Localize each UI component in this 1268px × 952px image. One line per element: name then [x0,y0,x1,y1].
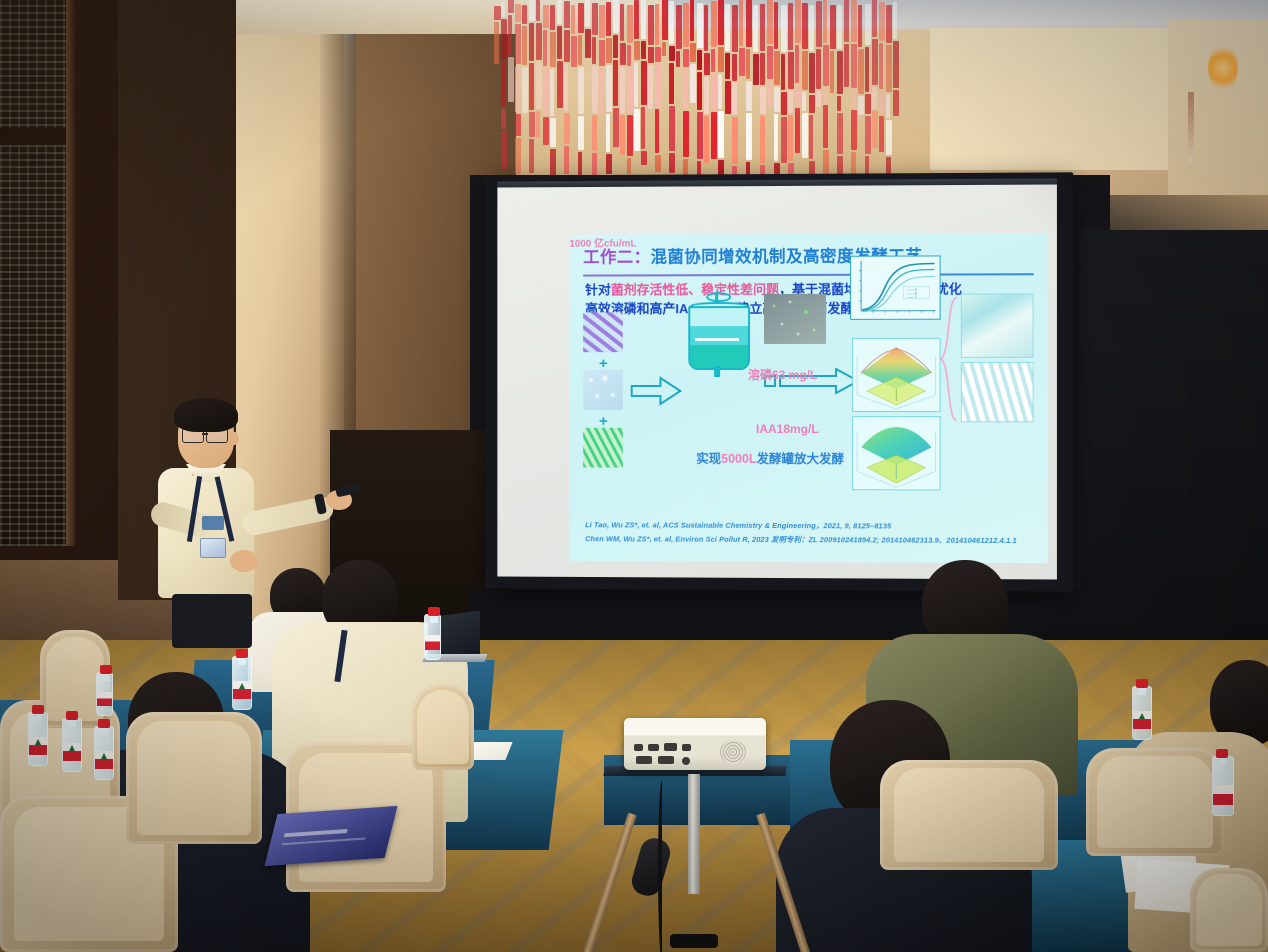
chandelier-strip [781,54,785,90]
chandelier-strip [858,96,864,115]
scaleup-post: 发酵罐放大发酵 [756,452,844,466]
chandelier-strip [648,65,653,109]
chandelier-strip [536,0,540,21]
chandelier-strip [809,95,815,113]
chandelier-strip [676,51,680,67]
conference-booklet [264,806,397,866]
chandelier-strip [781,5,787,52]
chandelier-strip [746,113,752,160]
phosphate-callout-label: 溶磷63 mg/L [748,366,817,383]
chandelier-strip [767,46,773,79]
chandelier-strip [746,49,750,79]
chandelier-strip [634,0,639,39]
chandelier-strip [557,61,563,108]
name-badge [200,538,226,558]
chandelier-strip [802,3,808,49]
chandelier-strip [697,3,703,48]
chandelier-strip [592,37,596,64]
chandelier-strip [585,29,591,58]
presenter-ear [230,432,239,445]
chandelier-strip [522,5,527,24]
chandelier-strip [606,38,612,63]
chandelier-strip [865,47,869,92]
chandelier-strip [501,2,505,17]
chandelier-strip [704,5,708,51]
chandelier-strip [578,67,584,114]
chandelier-strip [564,146,569,174]
scaleup-volume: 5000L [721,452,756,466]
projector-port-3 [664,743,677,751]
chandelier-strip [697,72,702,110]
chandelier-strip [865,94,871,114]
chandelier-strip [522,26,527,65]
chandelier-strip [627,68,633,113]
chandelier-strip [683,49,689,67]
chandelier-strip [823,105,828,148]
chandelier-strip [606,65,612,112]
chandelier-strip [851,110,857,150]
chandelier-strip [886,94,890,118]
body-line1-pre: 针对 [585,282,611,297]
chandelier-strip [683,111,689,157]
chandelier-strip [690,64,696,103]
microscope-image-colonies [583,370,623,410]
chandelier-strip [543,30,547,66]
chandelier-strip [641,0,646,39]
tripod-base [670,934,718,948]
water-bottle-1 [28,712,48,766]
chair-right-3 [1190,868,1268,952]
chandelier-strip [683,69,687,109]
chandelier-strip [774,87,780,112]
chandelier-strip [536,111,540,137]
chandelier-strip [627,5,633,43]
chandelier-strip [893,2,897,39]
chandelier-strip [543,117,549,145]
chandelier-strip [578,116,584,150]
slide-title-row: 工作二：混菌协同增效机制及高密度发酵工艺 [583,241,1031,273]
projector-port-4 [682,744,691,751]
chandelier-strip [767,0,773,44]
chandelier-strip [571,5,575,34]
screen-surface: 工作二：混菌协同增效机制及高密度发酵工艺 针对菌剂存活性低、稳定性差问题，基于混… [497,184,1057,579]
chandelier-strip [564,30,570,62]
lab-researcher-photo [961,293,1034,357]
chandelier-strip [515,24,521,64]
water-bottle-8 [96,672,113,716]
chandelier-strip [704,116,709,163]
response-surface-plot-phosphate [852,338,941,412]
badge-upper [202,516,224,530]
chandelier-strip [676,5,682,49]
chandelier-strip [711,112,717,159]
chandelier-strip [802,92,806,111]
chandelier-strip [655,155,661,172]
chandelier-strip [823,45,829,86]
chandelier-strip [634,109,640,151]
fermenter-outlet [714,366,720,377]
chandelier-strip [669,1,674,44]
chandelier-strip [501,109,506,129]
slide-title-prefix: 工作二 [583,249,633,267]
presenter-left-hand [230,550,258,572]
chandelier-strip [529,0,535,21]
chandelier-strip [669,153,675,173]
chandelier-strip [550,69,554,116]
chandelier-strip [816,1,822,47]
chandelier-strip [641,107,645,149]
presenter [130,398,360,648]
chandelier-strip [739,48,745,76]
chandelier-strip [648,5,654,45]
chandelier-strip [522,67,528,113]
chandelier-strip [613,0,619,33]
chandelier-strip [501,19,507,60]
chandelier-strip [865,4,871,45]
chandelier-strip [746,81,752,111]
chandelier-strip [872,111,878,148]
chandelier-strip [760,116,765,163]
chandelier-strip [718,74,722,109]
chandelier-strip [655,4,659,45]
title-divider [583,273,1033,276]
booklet-line [282,838,366,846]
chandelier-strip [620,67,625,113]
chandelier-strip [599,5,605,38]
chandelier-strip [865,116,871,154]
chandelier-strip [550,32,556,67]
chandelier-strip [893,41,899,88]
chandelier-strip [711,1,717,47]
chandelier-strip [529,63,534,110]
chandelier-strip [620,115,625,155]
chandelier-strip [564,1,570,28]
chandelier-strip [760,87,766,114]
page-title: 工作二：混菌协同增效机制及高密度发酵工艺 [583,241,1031,273]
chandelier-strip [893,90,899,116]
chandelier-strip [564,113,570,144]
chandelier-strip [655,109,659,153]
chandelier-strip [606,2,611,36]
chandelier-strip [774,114,778,161]
chandelier-strip [557,26,562,59]
chandelier-strip [886,5,892,43]
eyeglasses-bridge [202,433,208,435]
curly-brace [939,296,959,423]
chair-right-1 [880,760,1058,870]
microscope-image-rods [583,428,623,468]
chandelier-strip [501,62,506,107]
chandelier-strip [816,91,821,107]
chandelier-strip [851,90,856,108]
chandelier-strip [830,51,834,93]
chandelier-strip [774,2,778,49]
chandelier-strip [592,153,597,176]
chandelier-strip [823,88,828,103]
chandelier-strip [634,62,638,107]
chandelier-strip [655,47,661,62]
chair-left-3 [126,712,262,844]
projector-audio-jack [682,757,690,765]
chandelier-strip [641,61,647,105]
chandelier-strip [620,43,626,65]
chandelier [492,0,900,162]
projector-assembly [624,718,766,780]
chandelier-strip [732,117,738,164]
chandelier-strip [830,5,836,49]
chandelier-strip [886,120,892,155]
chandelier-strip [837,96,841,111]
chandelier-strip [809,5,814,51]
chandelier-strip [809,115,813,159]
chandelier-strip [620,4,624,41]
chandelier-strip [802,113,808,158]
chandelier-strip [662,42,666,56]
chandelier-strip [753,5,758,52]
chandelier-strip [627,115,633,156]
chandelier-strip [718,0,724,45]
chandelier-strip [872,39,878,85]
water-bottle-5 [424,614,441,660]
projector-vent [720,740,746,764]
colony-fluorescence-plate [764,294,826,344]
chandelier-strip [788,91,793,113]
booklet-title-bar [284,829,348,837]
chandelier-strip [494,6,501,20]
chandelier-strip [746,0,752,47]
chandelier-strip [886,45,892,92]
chandelier-strip [669,63,674,104]
chandelier-strip [760,53,765,85]
chandelier-strip [613,35,618,58]
chandelier-strip [662,0,668,40]
chandelier-strip [781,117,787,163]
chandelier-strip [788,115,793,161]
projection-screen: 工作二：混菌协同增效机制及高密度发酵工艺 针对菌剂存活性低、稳定性差问题，基于混… [486,172,1074,591]
chandelier-strip [732,54,737,81]
chandelier-strip [704,53,710,75]
chandelier-strip [837,113,843,154]
chandelier-strip [690,0,694,41]
chandelier-strip [690,43,696,62]
water-bottle-6 [1132,686,1152,740]
chandelier-strip [606,154,612,174]
growth-curve-chart: —— A—— B—— C [850,255,941,319]
chandelier-strip [655,64,661,107]
scaleup-callout-label: 实现5000L发酵罐放大发酵 [696,448,844,467]
chandelier-strip [585,0,590,27]
chandelier-strip [872,87,877,109]
chandelier-strip [578,35,582,65]
chandelier-strip [515,138,521,174]
projector-port-1 [634,744,643,751]
chandelier-strip [837,5,842,49]
chandelier-strip [858,49,864,94]
citation-line-2: Chen WM, Wu ZS*, et. al, Environ Sci Pol… [585,533,1017,546]
chandelier-strip [592,115,597,151]
scaleup-pre: 实现 [696,452,721,466]
chandelier-strip [564,64,568,111]
lattice-band [0,128,66,145]
chandelier-strip [823,0,827,43]
chandelier-strip [879,2,885,41]
chandelier-strip [697,112,703,159]
chandelier-strip [627,45,631,66]
chandelier-strip [753,54,759,85]
fermenter-wheel [706,292,731,302]
chandelier-strip [851,0,857,42]
citation-line-1: Li Tao, Wu ZS*, et. al, ACS Sustainable … [585,519,891,531]
chair-right-2 [1086,748,1224,856]
chandelier-strip [543,68,549,115]
chandelier-strip [711,74,717,110]
chandelier-strip [529,23,534,61]
chandelier-strip [641,41,646,59]
chandelier-strip [508,57,514,102]
chandelier-strip [508,15,512,55]
chandelier-strip [816,49,821,89]
chandelier-strip [627,158,631,174]
chandelier-strip [844,0,849,42]
chandelier-strip [718,111,724,158]
water-bottle-3 [94,726,114,780]
chandelier-strip [879,43,883,89]
chandelier-strip [543,5,549,28]
svg-text:—— C: —— C [907,295,917,299]
water-bottle-7 [1212,756,1234,816]
chandelier-strip [795,45,799,83]
chandelier-strip [725,4,730,51]
chandelier-strip [718,47,724,72]
chandelier-strip [844,44,849,87]
chandelier-strip [669,46,675,61]
chandelier-strip [501,131,507,169]
chandelier-strip [648,47,654,63]
chandelier-strip [557,0,562,24]
water-bottle-2 [62,718,82,772]
chandelier-strip [872,0,877,37]
plus-sign-1: + [599,356,608,371]
chandelier-strip [592,3,598,35]
chandelier-strip [515,66,519,112]
chandelier-strip [837,51,843,94]
chandelier-strip [515,4,521,22]
chandelier-strip [767,81,771,107]
chandelier-strip [802,51,808,90]
chandelier-strip [788,52,794,89]
lattice-screen-decor [0,0,66,546]
chandelier-stem [1188,92,1194,162]
chandelier-strip [599,40,605,66]
chandelier-strip [641,151,647,165]
chandelier-strip [851,44,857,88]
chandelier-strip [536,23,542,60]
projector-cable [658,780,666,952]
projector-port-2 [648,744,659,751]
response-surface-plot-iaa [852,416,941,490]
chair-center-1 [412,684,474,770]
chandelier-strip [550,5,555,30]
chandelier-strip [711,49,715,72]
tripod-column [688,774,700,894]
chandelier-strip [788,3,793,50]
chandelier-strip [725,53,730,79]
chandelier-strip [571,36,577,67]
chandelier-strip [732,5,738,52]
chandelier-strip [515,114,521,136]
chandelier-strip [683,3,689,47]
chandelier-strip [879,116,884,152]
chandelier-strip [809,53,815,93]
fermenter-impeller [695,338,739,341]
lattice-edge-trim [66,0,75,546]
chandelier-strip [879,91,885,114]
chandelier-strip [550,118,556,147]
microscope-image-crystals [583,312,623,352]
chandelier-strip [732,83,737,115]
chandelier-strip [606,114,610,152]
chandelier-strip [599,68,603,115]
chandelier-strip [669,106,675,151]
chandelier-strip [536,62,542,109]
projector-vga-1 [636,756,652,764]
chandelier-strip [704,77,709,114]
chandelier-strip [760,4,765,51]
conference-room-photo: 工作二：混菌协同增效机制及高密度发酵工艺 针对菌剂存活性低、稳定性差问题，基于混… [0,0,1268,952]
chandelier-strip [739,0,743,46]
plus-sign-2: + [599,414,608,429]
chandelier-strip [529,112,535,137]
water-bottle-4 [232,656,252,710]
chandelier-strip [508,0,514,13]
arrow-inputs-to-fermenter [631,376,683,406]
projector-vga-2 [658,756,674,764]
chandelier-strip [795,108,800,153]
slide-content: 工作二：混菌协同增效机制及高密度发酵工艺 针对菌剂存活性低、稳定性差问题，基于混… [569,233,1047,563]
presenter-hair [174,398,238,432]
chandelier-strip [795,0,801,43]
chandelier-strip [697,50,702,70]
fermenter-vessel [686,292,748,378]
chandelier-strip [529,139,534,173]
chandelier-strip [725,81,731,114]
slide-title-separator: ： [634,248,651,266]
chandelier-strip [578,3,584,33]
chandelier-strip [774,51,780,85]
chandelier-strip [578,152,582,177]
iaa-callout-label: IAA18mg/L [756,422,819,436]
presenter-lower-body [172,594,252,648]
chandelier-bulb-glow [1208,44,1238,92]
chandelier-strip [494,22,499,64]
chandelier-strip [634,41,640,60]
chandelier-strip [858,5,862,47]
chandelier-strip [592,66,598,113]
product-bottles-photo [961,362,1034,422]
chandelier-strip [781,92,787,115]
chandelier-strip [795,85,801,106]
chandelier-strip [613,108,619,147]
chandelier-strip [613,60,618,106]
